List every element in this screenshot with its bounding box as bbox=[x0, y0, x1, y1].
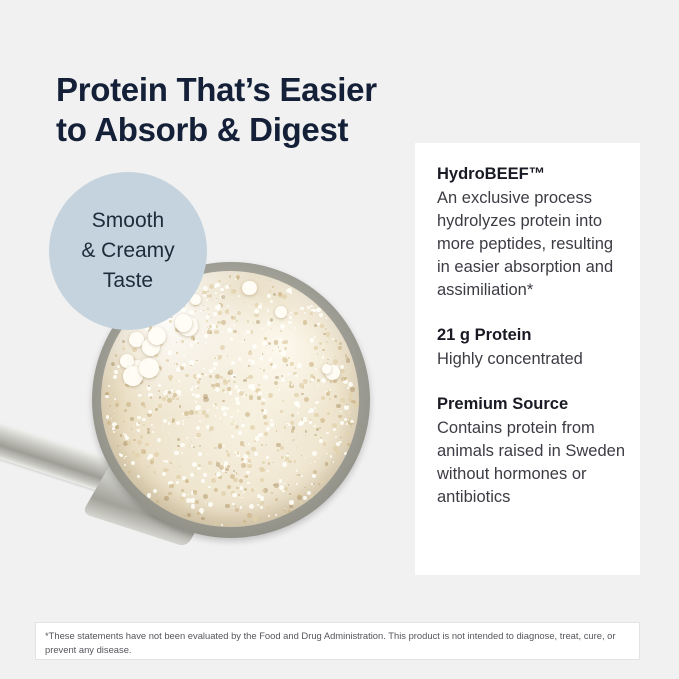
disclaimer-box: *These statements have not been evaluate… bbox=[35, 622, 640, 660]
headline-line-2: to Absorb & Digest bbox=[56, 110, 436, 150]
benefit-body: Contains protein from animals raised in … bbox=[437, 417, 626, 509]
benefit-body: Highly concentrated bbox=[437, 348, 626, 371]
benefit-title: 21 g Protein bbox=[437, 324, 626, 347]
benefit-title: HydroBEEF™ bbox=[437, 163, 626, 186]
benefit-block-hydrobeef: HydroBEEF™ An exclusive process hydrolyz… bbox=[437, 163, 626, 302]
page-title: Protein That’s Easier to Absorb & Digest bbox=[56, 70, 436, 150]
badge-line-3: Taste bbox=[81, 266, 174, 296]
benefit-block-protein-amount: 21 g Protein Highly concentrated bbox=[437, 324, 626, 371]
benefit-body: An exclusive process hydrolyzes protein … bbox=[437, 187, 626, 302]
smooth-creamy-taste-badge: Smooth & Creamy Taste bbox=[49, 172, 207, 330]
benefits-panel: HydroBEEF™ An exclusive process hydrolyz… bbox=[415, 143, 640, 575]
badge-line-1: Smooth bbox=[81, 206, 174, 236]
badge-line-2: & Creamy bbox=[81, 236, 174, 266]
benefit-block-premium-source: Premium Source Contains protein from ani… bbox=[437, 393, 626, 509]
infographic-canvas: Protein That’s Easier to Absorb & Digest… bbox=[0, 0, 679, 679]
badge-label: Smooth & Creamy Taste bbox=[75, 206, 180, 296]
disclaimer-text: *These statements have not been evaluate… bbox=[45, 629, 630, 656]
benefit-title: Premium Source bbox=[437, 393, 626, 416]
headline-line-1: Protein That’s Easier bbox=[56, 70, 436, 110]
